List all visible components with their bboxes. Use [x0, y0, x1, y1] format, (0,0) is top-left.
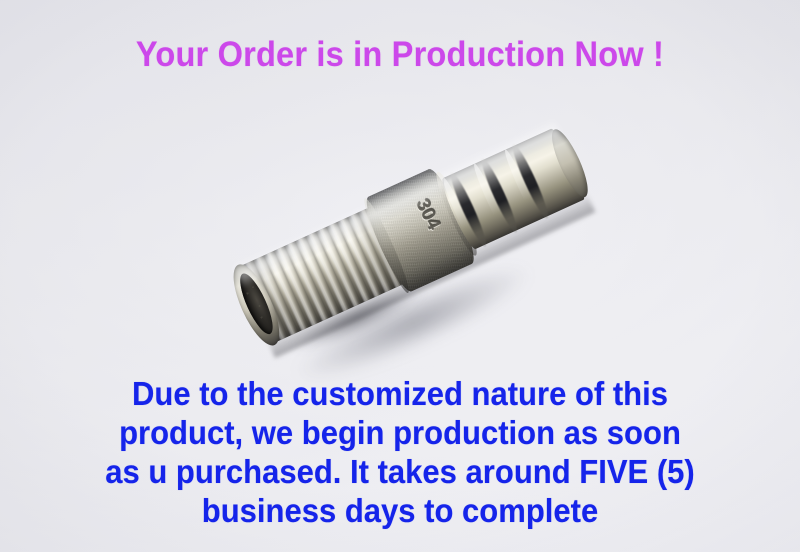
barb-tip-cap: [545, 125, 594, 201]
headline-text: Your Order is in Production Now !: [28, 34, 772, 76]
notice-line-4: business days to complete: [24, 491, 776, 530]
production-notice: Due to the customized nature of this pro…: [24, 374, 776, 530]
product-photo: 304: [228, 142, 600, 368]
promo-image: Your Order is in Production Now ! 304: [0, 0, 800, 552]
notice-line-2: product, we begin production as soon: [24, 413, 776, 452]
notice-line-3: as u purchased. It takes around FIVE (5): [24, 452, 776, 491]
notice-line-1: Due to the customized nature of this: [24, 374, 776, 413]
